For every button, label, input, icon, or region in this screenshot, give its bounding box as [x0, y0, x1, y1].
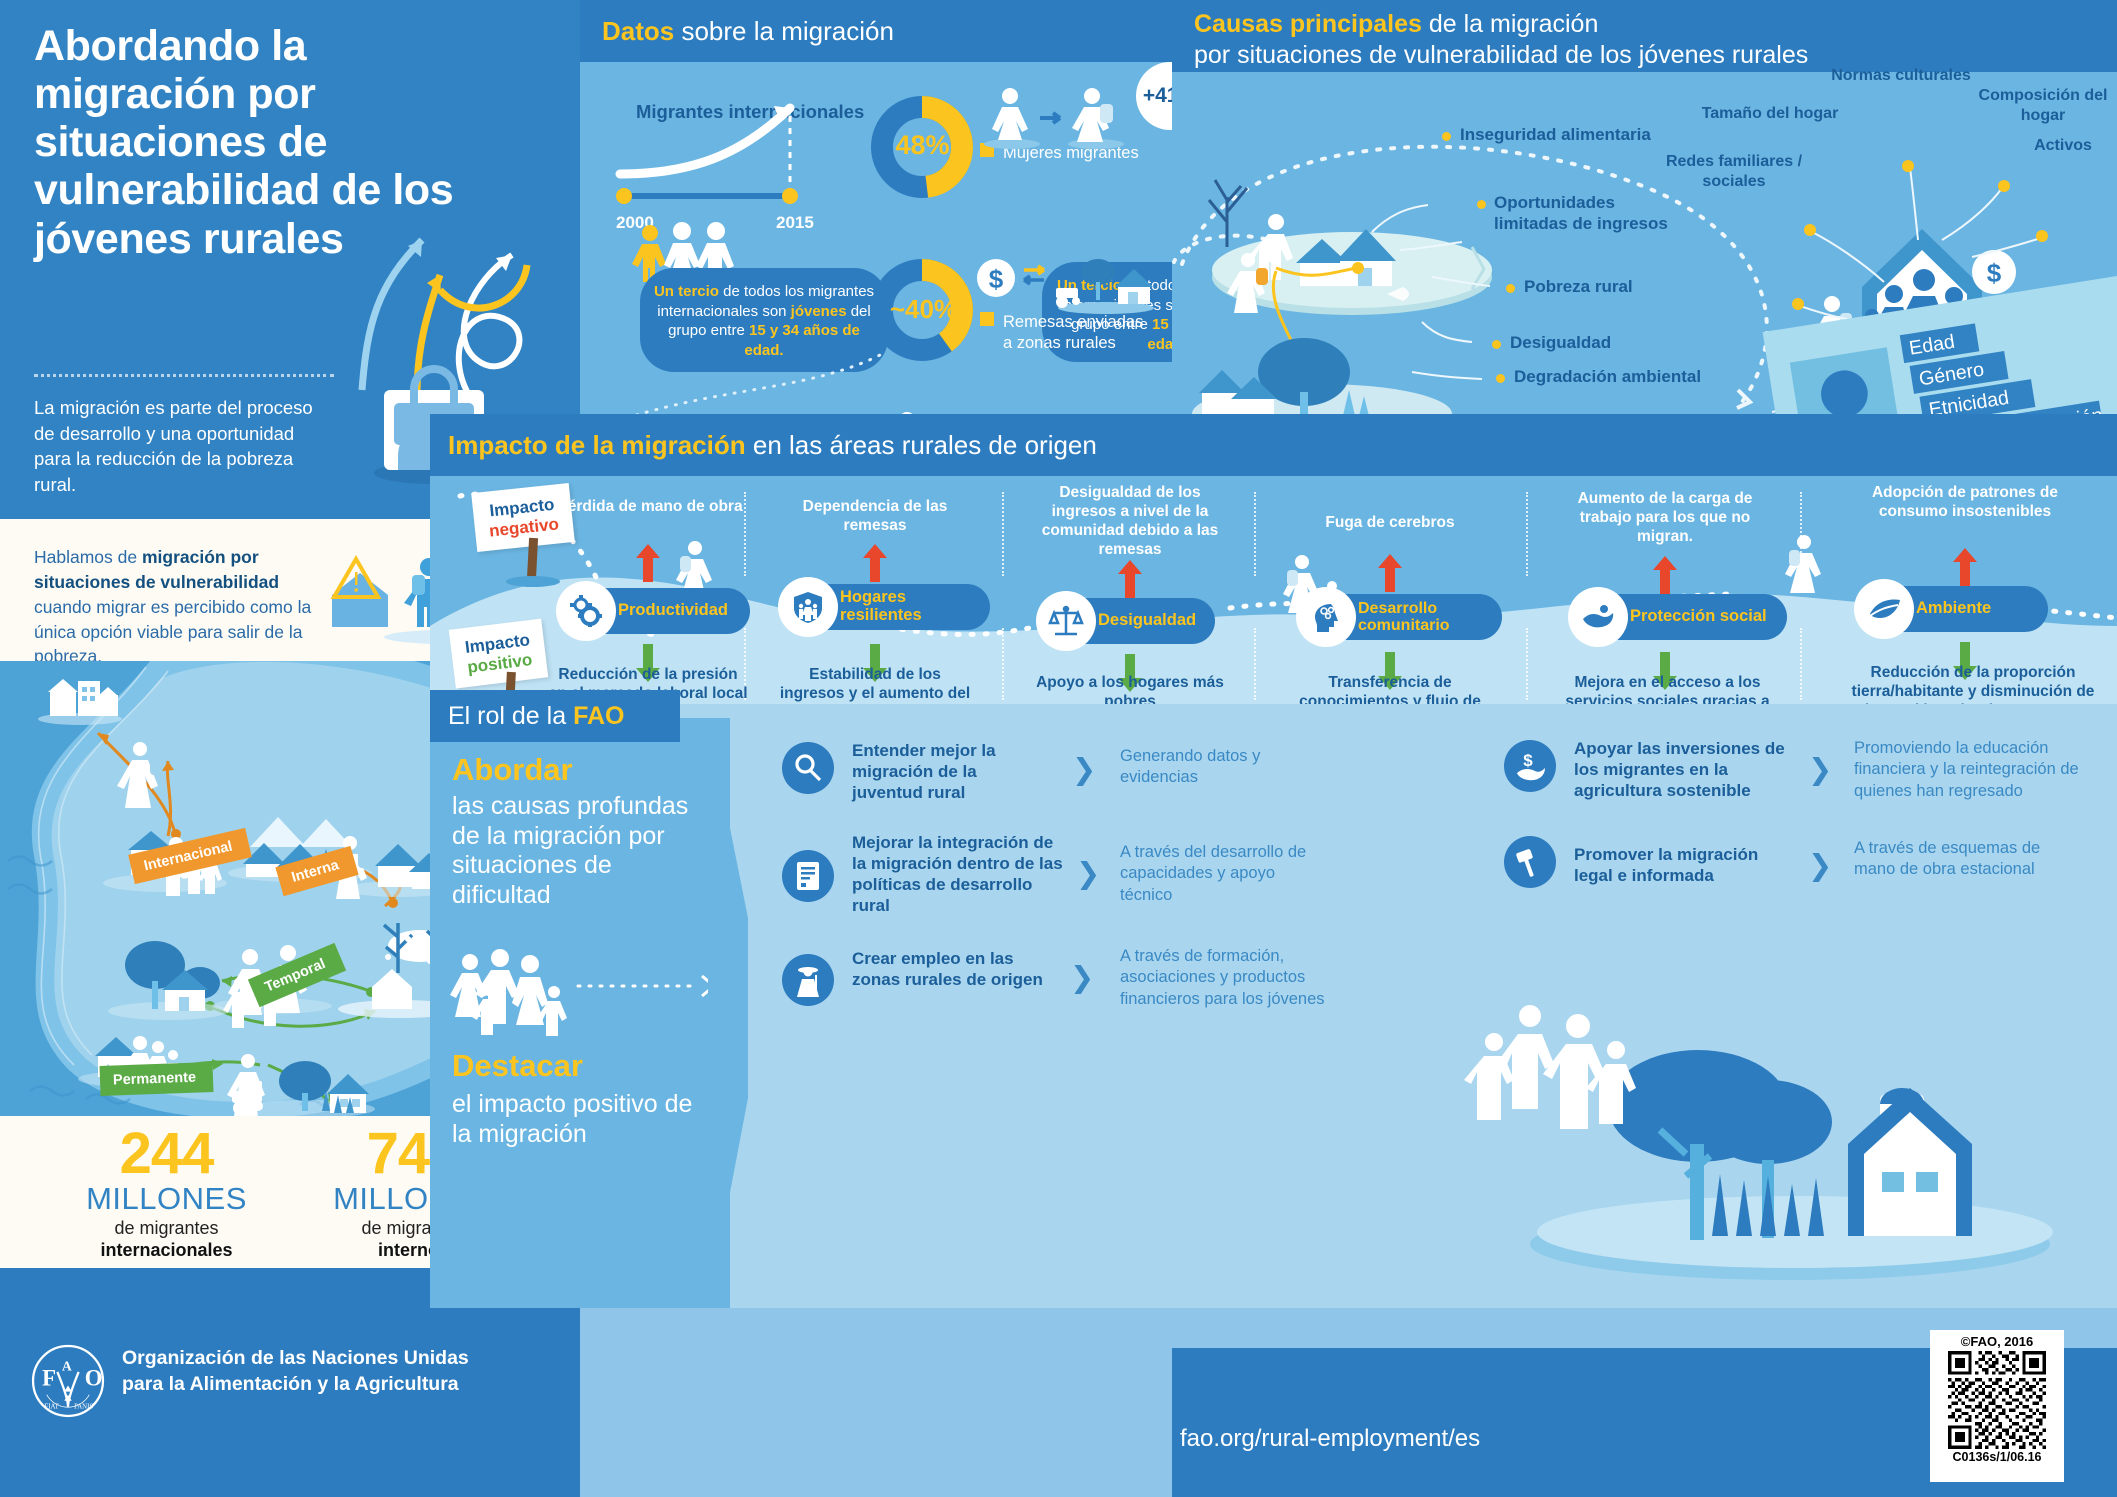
farmer-icon — [782, 954, 834, 1006]
arrow-up-red-icon — [635, 544, 661, 582]
migrant-id-card: Edad Género Etnicidad Nivel de educación… — [1342, 280, 1542, 410]
fao-item-desc-0: Generando datos y evidencias — [1120, 746, 1310, 789]
fao-item-title-1: Mejorar la integración de la migración d… — [852, 832, 1067, 916]
impact-pill-ambiente: Ambiente — [1858, 586, 2048, 632]
arrow-up-red-icon — [1117, 560, 1143, 598]
signpost-shadow — [506, 576, 560, 587]
copyright-text: ©FAO, 2016 — [1934, 1334, 2060, 1350]
pill-label: Hogares resilientes — [840, 589, 974, 625]
fao-item-desc-1: A través del desarrollo de capacidades y… — [1120, 842, 1310, 906]
column-divider — [1800, 492, 1802, 576]
chevron-right-icon: ❯ — [1808, 848, 1832, 883]
fao-item-title-4: Promover la migración legal e informada — [1574, 844, 1794, 886]
svg-text:PANIS: PANIS — [74, 1403, 93, 1410]
cause-dot — [1442, 132, 1451, 141]
money-hand-icon: $ — [1504, 740, 1556, 792]
women-migration-icon — [980, 82, 1130, 152]
causas-header: Causas principales de la migración por s… — [1172, 0, 2117, 72]
household-label-redes: Redes familiares / sociales — [1644, 152, 1824, 191]
impact-negative-2: Desigualdad de los ingresos a nivel de l… — [1035, 484, 1225, 560]
stat-number: 244 — [64, 1126, 269, 1183]
impact-pill-desarrollo-comunitario: Desarrollo comunitario — [1300, 594, 1502, 640]
pill-label: Protección social — [1630, 608, 1767, 626]
hands-care-icon — [1568, 587, 1628, 647]
column-divider — [1254, 492, 1256, 576]
hero-divider — [34, 374, 334, 377]
fao-destacar-heading: Destacar — [452, 1050, 583, 1083]
fao-abordar-heading: Abordar — [452, 754, 573, 787]
chevron-right-icon: ❯ — [1070, 960, 1094, 995]
impacto-header: Impacto de la migración en las áreas rur… — [430, 414, 2117, 476]
impact-negative-3: Fuga de cerebros — [1295, 514, 1485, 533]
impact-pill-desigualdad: Desigualdad — [1040, 598, 1215, 644]
dotted-arrow-right-icon — [578, 973, 728, 999]
household-label-normas: Normas culturales — [1786, 66, 2016, 86]
fao-item-desc-2: A través de formación, asociaciones y pr… — [1120, 946, 1340, 1010]
svg-text:FIAT: FIAT — [44, 1403, 59, 1410]
fao-item-title-2: Crear empleo en las zonas rurales de ori… — [852, 948, 1052, 990]
pill-label: Desarrollo comunitario — [1358, 600, 1486, 635]
family-walking-icon — [452, 948, 572, 1026]
svg-text:O: O — [85, 1366, 103, 1391]
impact-pill-hogares-resilientes: Hogares resilientes — [782, 584, 990, 630]
impacto-columns: Impacto negativo Impacto positivo Pérdid… — [430, 476, 2117, 704]
brain-head-icon — [1296, 587, 1356, 647]
fao-item-desc-4: A través de esquemas de mano de obra est… — [1854, 838, 2064, 881]
arrow-up-red-icon — [862, 544, 888, 582]
column-divider — [1800, 628, 1802, 700]
shield-family-icon — [778, 577, 838, 637]
panel-slant-edge — [708, 718, 748, 1308]
stat-line1: de migrantes — [64, 1217, 269, 1240]
migration-growth-chart — [600, 96, 850, 216]
impact-negative-1: Dependencia de las remesas — [780, 498, 970, 536]
arrow-up-red-icon — [1377, 554, 1403, 592]
sign-impacto-negativo: Impacto negativo — [471, 483, 575, 552]
chevron-right-icon: ❯ — [1072, 752, 1096, 787]
column-divider — [1526, 628, 1528, 700]
impact-negative-0: Pérdida de mano de obra — [555, 498, 745, 517]
hero-subtitle: La migración es parte del proceso de des… — [34, 395, 314, 497]
document-icon — [782, 850, 834, 902]
map-tag-permanente: Permanente — [100, 1062, 214, 1096]
fao-logo-icon: F O A FIAT PANIS — [30, 1343, 106, 1419]
causas-panel: Causas principales de la migración por s… — [1172, 0, 2117, 421]
fao-item-title-3: Apoyar las inversiones de los migrantes … — [1574, 738, 1794, 801]
svg-text:$: $ — [1523, 751, 1533, 770]
column-divider — [1254, 628, 1256, 700]
donut-women-value: 48% — [880, 130, 965, 161]
pill-label: Ambiente — [1916, 600, 1991, 618]
definition-text: Hablamos de migración por situaciones de… — [34, 545, 334, 669]
cause-label-0: Inseguridad alimentaria — [1460, 124, 1651, 145]
year-end: 2015 — [776, 213, 814, 233]
column-divider — [1002, 628, 1004, 700]
column-divider — [1002, 492, 1004, 576]
fao-item-title-0: Entender mejor la migración de la juvent… — [852, 740, 1052, 803]
fao-destacar-text: el impacto positivo de la migración — [452, 1090, 717, 1149]
cause-dot — [1477, 200, 1486, 209]
sign-impacto-positivo: Impacto positivo — [449, 619, 549, 689]
fao-name-line2: para la Alimentación y la Agricultura — [122, 1372, 469, 1398]
fao-role-tab: El rol de la FAO — [430, 690, 680, 742]
rural-village-illustration — [1450, 954, 2110, 1284]
fao-role-left: Abordar las causas profundas de la migra… — [430, 718, 730, 1308]
publication-code: C0136s/1/06.16 — [1934, 1450, 2060, 1464]
household-label-tamano: Tamaño del hogar — [1680, 104, 1860, 124]
magnifier-icon — [782, 742, 834, 794]
impact-negative-4: Aumento de la carga de trabajo para los … — [1570, 490, 1760, 547]
qr-code-icon — [1938, 1351, 2056, 1449]
leaf-icon — [1854, 579, 1914, 639]
pill-label: Productividad — [618, 602, 728, 620]
arrow-up-red-icon — [1652, 556, 1678, 594]
fao-abordar-text: las causas profundas de la migración por… — [452, 792, 717, 910]
fao-organization-name: Organización de las Naciones Unidas para… — [122, 1346, 469, 1397]
chevron-right-icon: ❯ — [1808, 752, 1832, 787]
cause-label-1: Oportunidades limitadas de ingresos — [1494, 192, 1684, 235]
svg-text:A: A — [62, 1358, 72, 1373]
impact-pill-productividad: Productividad — [560, 588, 750, 634]
fao-item-desc-3: Promoviendo la educación financiera y la… — [1854, 738, 2084, 802]
fao-website-url[interactable]: fao.org/rural-employment/es — [1180, 1425, 1480, 1453]
svg-text:F: F — [42, 1366, 56, 1391]
cause-label-4: Degradación ambiental — [1514, 366, 1701, 387]
datos-header: Datos sobre la migración — [580, 0, 1172, 62]
fao-role-panel: Abordar las causas profundas de la migra… — [430, 704, 2117, 1308]
gears-icon — [556, 581, 616, 641]
pill-label: Desigualdad — [1098, 612, 1196, 630]
chevron-right-icon: ❯ — [1076, 856, 1100, 891]
arrow-up-red-icon — [1952, 548, 1978, 586]
impact-negative-5: Adopción de patrones de consumo insosten… — [1860, 484, 2070, 522]
signpost-stake — [527, 538, 538, 580]
stat-international: 244 MILLONES de migrantes internacionale… — [64, 1126, 269, 1268]
stat-unit: MILLONES — [64, 1183, 269, 1214]
household-label-activos: Activos — [2008, 136, 2117, 156]
column-divider — [1526, 492, 1528, 576]
fao-name-line1: Organización de las Naciones Unidas — [122, 1346, 469, 1372]
qr-code-box: ©FAO, 2016 — [1930, 1330, 2064, 1482]
household-label-composicion: Composición del hogar — [1978, 86, 2108, 125]
scales-icon — [1036, 591, 1096, 651]
gavel-icon — [1504, 836, 1556, 888]
stat-line2: internacionales — [64, 1239, 269, 1262]
impact-pill-proteccion-social: Protección social — [1572, 594, 1787, 640]
